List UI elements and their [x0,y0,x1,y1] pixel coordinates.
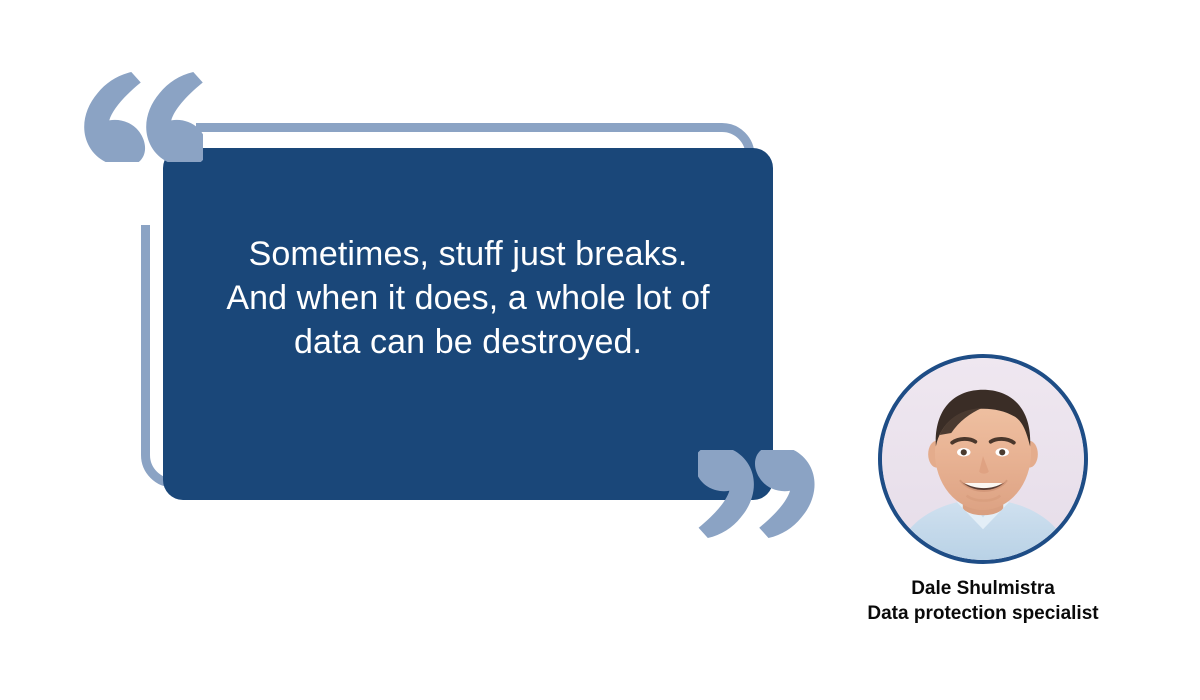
avatar [878,354,1088,564]
avatar-portrait-image [882,358,1084,560]
attribution-role: Data protection specialist [783,601,1183,626]
quote-card-slide: Sometimes, stuff just breaks. And when i… [0,0,1200,700]
attribution: Dale Shulmistra Data protection speciali… [783,576,1183,626]
quote-text: Sometimes, stuff just breaks. And when i… [163,232,773,364]
open-quote-icon [81,70,203,162]
close-quote-icon [698,450,818,540]
attribution-name: Dale Shulmistra [783,576,1183,601]
